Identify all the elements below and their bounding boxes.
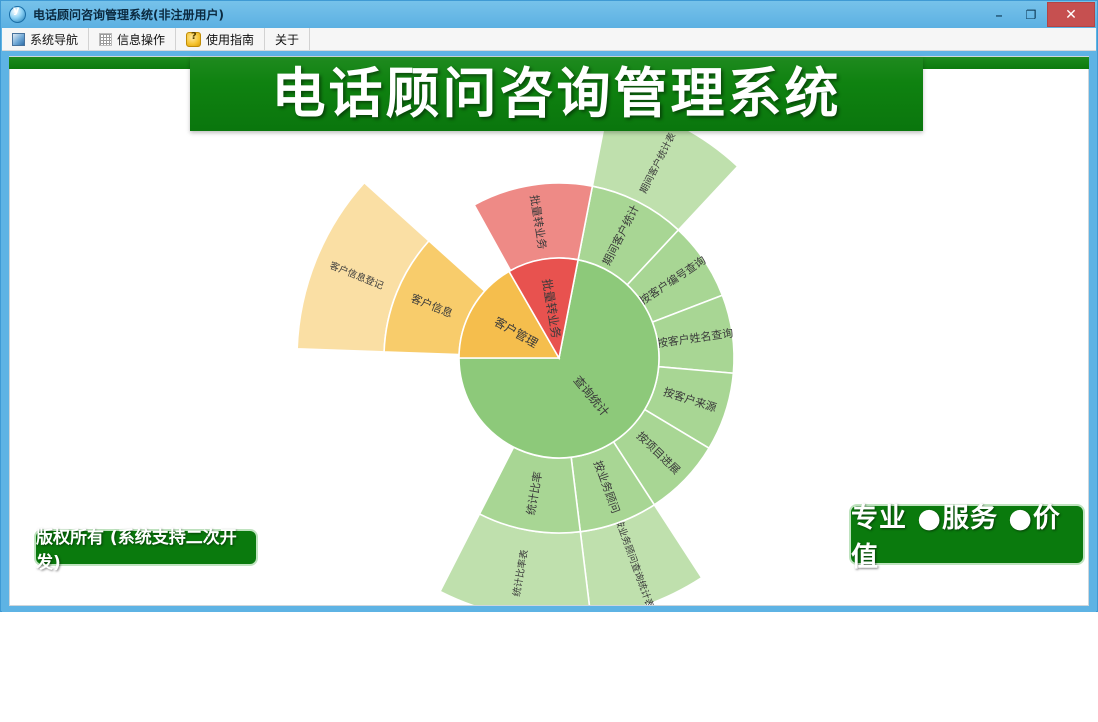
menu-bar: 系统导航 信息操作 使用指南 关于: [2, 28, 1096, 51]
menu-item-user-guide[interactable]: 使用指南: [176, 28, 265, 50]
menu-item-label: 使用指南: [206, 31, 254, 48]
main-title-banner: 电话顾问咨询管理系统: [190, 57, 923, 131]
slogan-badge: 专业 ●服务 ●价值: [849, 504, 1085, 565]
menu-item-about[interactable]: 关于: [265, 28, 310, 50]
status-bar: [2, 606, 1096, 612]
navigation-icon: [12, 33, 25, 46]
menu-bar-filler: [310, 28, 1096, 50]
page-title: 电话顾问咨询管理系统: [272, 67, 842, 121]
title-bar: 电话顾问咨询管理系统(非注册用户) – ❐ ✕: [1, 1, 1097, 28]
menu-item-label: 信息操作: [117, 31, 165, 48]
menu-item-info-operations[interactable]: 信息操作: [89, 28, 176, 50]
copyright-badge: 版权所有 (系统支持二次开发): [34, 529, 258, 566]
app-globe-icon: [9, 6, 26, 23]
maximize-button[interactable]: ❐: [1015, 4, 1047, 26]
menu-item-system-navigation[interactable]: 系统导航: [2, 28, 89, 50]
help-badge-icon: [186, 32, 201, 47]
sunburst-slice[interactable]: 批量转业务: [474, 183, 592, 271]
sunburst-slice[interactable]: 统计比率: [480, 447, 581, 533]
menu-item-label: 关于: [275, 31, 299, 48]
grid-icon: [99, 33, 112, 46]
application-window: 电话顾问咨询管理系统(非注册用户) – ❐ ✕ 系统导航 信息操作 使用指南 关…: [0, 0, 1098, 612]
window-controls: – ❐ ✕: [983, 1, 1097, 28]
minimize-button[interactable]: –: [983, 4, 1015, 26]
window-title: 电话顾问咨询管理系统(非注册用户): [33, 6, 224, 23]
menu-item-label: 系统导航: [30, 31, 78, 48]
close-button[interactable]: ✕: [1047, 2, 1095, 27]
